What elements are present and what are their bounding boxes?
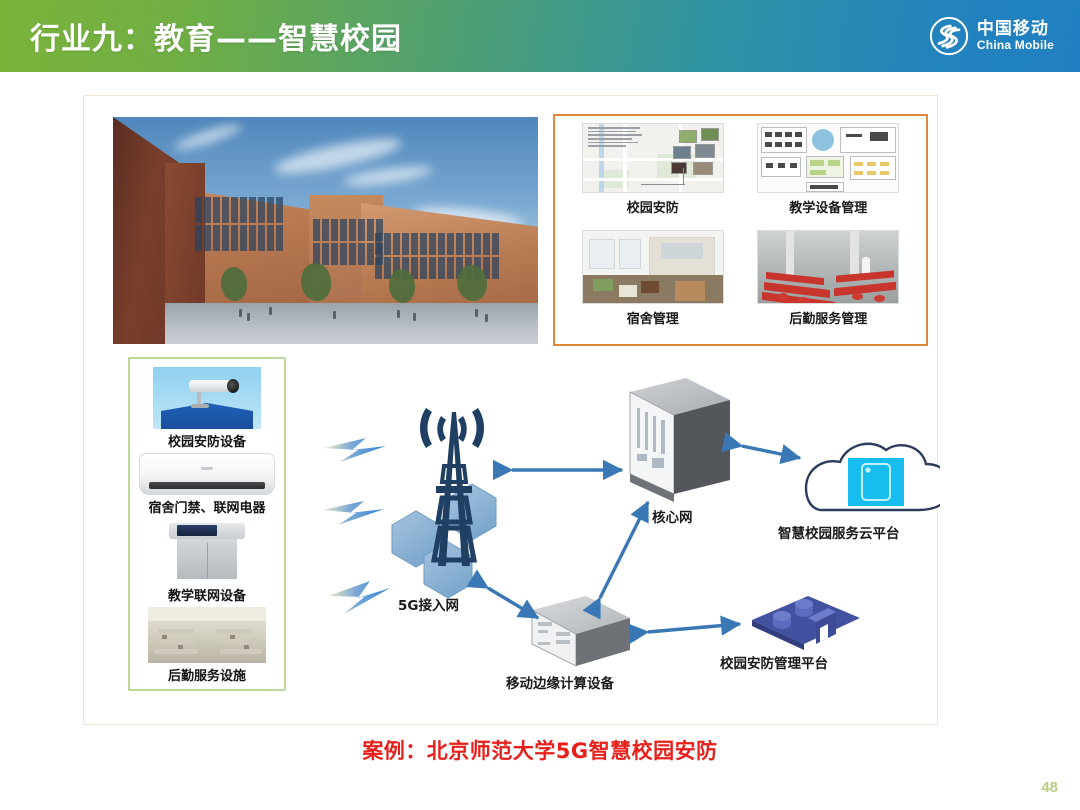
page-title: 行业九：教育——智慧校园 xyxy=(30,14,402,58)
canteen-photo-thumbnail xyxy=(757,230,899,304)
dormitory-photo-thumbnail xyxy=(582,230,724,304)
scenario-label: 宿舍管理 xyxy=(627,308,679,327)
scenario-label: 后勤服务管理 xyxy=(789,308,867,327)
mec-server-icon xyxy=(532,596,630,666)
cctv-camera-icon xyxy=(153,367,261,429)
photo-person xyxy=(247,313,250,321)
photo-plaza xyxy=(165,303,538,344)
dining-hall-icon xyxy=(148,607,266,663)
photo-tree xyxy=(221,267,247,301)
scenario-cell-campus-security: 校园安防 xyxy=(565,123,741,230)
node-label-cloud: 智慧校园服务云平台 xyxy=(778,522,900,542)
slide-header: 行业九：教育——智慧校园 中国移动 China Mobile xyxy=(0,0,1080,72)
signal-bolt-2 xyxy=(322,501,384,525)
node-label-access: 5G接入网 xyxy=(398,594,459,614)
node-label-core: 核心网 xyxy=(652,506,693,526)
logo-english-text: China Mobile xyxy=(977,39,1054,52)
scenario-cell-teaching-equipment: 教学设备管理 xyxy=(741,123,917,230)
server-rack-icon xyxy=(630,378,730,502)
photo-person xyxy=(333,311,336,319)
devices-panel: 校园安防设备 宿舍门禁、联网电器 教学联网设备 xyxy=(128,357,286,691)
photo-person xyxy=(239,309,242,317)
node-label-mec: 移动边缘计算设备 xyxy=(506,672,614,692)
scenario-cell-logistics: 后勤服务管理 xyxy=(741,230,917,337)
scenario-label: 教学设备管理 xyxy=(789,197,867,216)
campus-security-map-thumbnail xyxy=(582,123,724,193)
device-label: 后勤服务设施 xyxy=(168,665,246,684)
photo-person xyxy=(413,313,416,321)
cloud-platform-icon xyxy=(806,444,940,510)
air-conditioner-icon xyxy=(139,453,275,495)
page-number: 48 xyxy=(1041,779,1058,796)
arrow-mec-core xyxy=(600,502,648,598)
device-item-dorm: 宿舍门禁、联网电器 xyxy=(139,453,275,519)
photo-person xyxy=(485,314,488,322)
photo-person xyxy=(269,307,272,315)
arrow-core-cloud xyxy=(742,446,800,458)
security-platform-icon xyxy=(752,596,860,650)
photo-tree xyxy=(301,263,331,301)
photo-windows xyxy=(313,219,383,265)
china-mobile-swirl-logo-icon xyxy=(929,16,969,56)
china-mobile-logo: 中国移动 China Mobile xyxy=(929,16,1054,56)
photo-tree xyxy=(389,269,415,303)
device-label: 教学联网设备 xyxy=(168,585,246,604)
case-caption: 案例：北京师范大学5G智慧校园安防 xyxy=(0,735,1080,765)
arrow-access-mec xyxy=(488,588,538,618)
lectern-podium-icon xyxy=(165,519,249,583)
device-item-logistics: 后勤服务设施 xyxy=(148,607,266,687)
network-diagram: 5G接入网 核心网 智慧校园服务云平台 移动边缘计算设备 校园安防管理平台 xyxy=(300,370,940,700)
campus-photo xyxy=(113,117,538,344)
photo-person xyxy=(475,309,478,317)
device-label: 校园安防设备 xyxy=(168,431,246,450)
device-item-security: 校园安防设备 xyxy=(153,367,261,453)
node-label-security: 校园安防管理平台 xyxy=(720,652,828,672)
device-label: 宿舍门禁、联网电器 xyxy=(148,497,265,516)
scenario-cell-dormitory: 宿舍管理 xyxy=(565,230,741,337)
scenarios-panel: 校园安防 xyxy=(553,114,928,346)
arrow-mec-security xyxy=(648,624,740,632)
logo-chinese-text: 中国移动 xyxy=(977,21,1054,39)
teaching-equipment-diagram-thumbnail xyxy=(757,123,899,193)
device-item-teaching: 教学联网设备 xyxy=(165,519,249,607)
photo-person xyxy=(397,310,400,318)
signal-bolt-1 xyxy=(324,438,386,462)
slide: 行业九：教育——智慧校园 中国移动 China Mobile xyxy=(0,0,1080,810)
photo-windows xyxy=(195,197,283,251)
photo-tree xyxy=(457,265,487,301)
signal-bolt-3 xyxy=(328,581,390,614)
scenario-label: 校园安防 xyxy=(627,197,679,216)
